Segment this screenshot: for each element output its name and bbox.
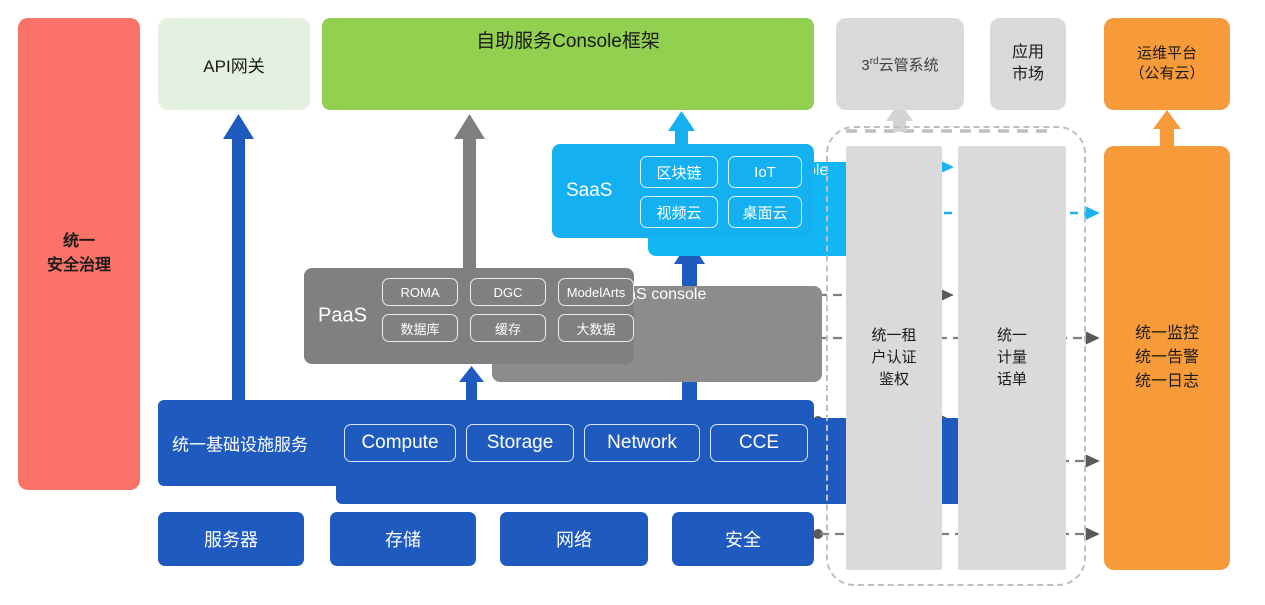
paas-service-modelarts[interactable]: ModelArts (558, 278, 634, 306)
saas-service-iot[interactable]: IoT (728, 156, 802, 188)
paas-service-bigdata[interactable]: 大数据 (558, 314, 634, 342)
security-governance-panel[interactable]: 统一 安全治理 (18, 18, 140, 490)
app-market-box[interactable]: 应用 市场 (990, 18, 1066, 110)
iaas-layer-label: 统一基础设施服务 (172, 431, 308, 456)
saas-layer-label: SaaS (566, 180, 612, 202)
saas-service-blockchain-label: 区块链 (656, 162, 701, 183)
security-governance-line2: 安全治理 (47, 254, 111, 278)
auth-line3: 鉴权 (871, 369, 916, 391)
saas-service-video-cloud[interactable]: 视频云 (640, 196, 718, 228)
ops-platform-line2: （公有云） (1129, 64, 1204, 84)
metering-line2: 计量 (997, 347, 1027, 369)
third-party-cloud-mgmt-box[interactable]: 3rd云管系统 (836, 18, 964, 110)
paas-service-roma-label: ROMA (401, 285, 440, 300)
iaas-service-cce[interactable]: CCE (710, 424, 808, 462)
metering-line3: 话单 (997, 369, 1027, 391)
resource-storage-label: 存储 (385, 526, 421, 552)
auth-line1: 统一租 (871, 325, 916, 347)
resource-network-label: 网络 (556, 526, 592, 552)
paas-service-modelarts-label: ModelArts (567, 285, 626, 300)
ops-platform-box[interactable]: 运维平台 （公有云） (1104, 18, 1230, 110)
resource-network-box[interactable]: 网络 (500, 512, 648, 566)
unified-ops-column[interactable]: 统一监控 统一告警 统一日志 (1104, 146, 1230, 570)
iaas-service-cce-label: CCE (739, 432, 779, 454)
ops-column-line1: 统一监控 (1135, 322, 1199, 346)
resource-server-box[interactable]: 服务器 (158, 512, 304, 566)
resource-storage-box[interactable]: 存储 (330, 512, 476, 566)
auth-line2: 户认证 (871, 347, 916, 369)
saas-service-video-cloud-label: 视频云 (656, 202, 701, 223)
resource-security-box[interactable]: 安全 (672, 512, 814, 566)
console-framework-box[interactable]: 自助服务Console框架 IaaS console PaaS console … (322, 18, 814, 110)
saas-service-blockchain[interactable]: 区块链 (640, 156, 718, 188)
ops-column-line2: 统一告警 (1135, 346, 1199, 370)
ops-platform-line1: 运维平台 (1129, 44, 1204, 64)
third-cloud-suffix: 云管系统 (879, 57, 939, 74)
third-cloud-sup: rd (870, 56, 879, 67)
arrow-ops-to-ops-platform (1153, 110, 1181, 148)
iaas-service-network-label: Network (607, 432, 677, 454)
api-gateway-box[interactable]: API网关 (158, 18, 310, 110)
iaas-service-network[interactable]: Network (584, 424, 700, 462)
saas-service-desktop-cloud[interactable]: 桌面云 (728, 196, 802, 228)
arrow-iaas-to-paas (459, 366, 484, 400)
resource-security-label: 安全 (725, 526, 761, 552)
third-cloud-label: 3rd云管系统 (861, 54, 938, 75)
iaas-service-storage-label: Storage (487, 432, 554, 454)
iaas-service-storage[interactable]: Storage (466, 424, 574, 462)
paas-service-bigdata-label: 大数据 (576, 319, 615, 338)
iaas-service-compute[interactable]: Compute (344, 424, 456, 462)
api-gateway-label: API网关 (203, 52, 264, 77)
paas-service-cache-label: 缓存 (495, 319, 521, 338)
iaas-service-compute-label: Compute (361, 432, 438, 454)
arrow-saas-to-saas-console (668, 111, 695, 148)
paas-service-database-label: 数据库 (400, 319, 439, 338)
unified-tenant-auth-column[interactable]: 统一租 户认证 鉴权 (846, 146, 942, 570)
resource-server-label: 服务器 (204, 526, 258, 552)
security-governance-line1: 统一 (47, 230, 111, 254)
paas-layer-label: PaaS (318, 305, 367, 328)
ops-column-line3: 统一日志 (1135, 370, 1199, 394)
metering-line1: 统一 (997, 325, 1027, 347)
architecture-diagram: 统一 安全治理 API网关 自助服务Console框架 IaaS console… (0, 0, 1265, 605)
third-cloud-prefix: 3 (861, 57, 869, 74)
paas-service-dgc[interactable]: DGC (470, 278, 546, 306)
saas-service-desktop-cloud-label: 桌面云 (742, 202, 787, 223)
paas-service-cache[interactable]: 缓存 (470, 314, 546, 342)
iaas-layer-box[interactable]: 统一基础设施服务 Compute Storage Network CCE (158, 400, 814, 486)
paas-service-dgc-label: DGC (494, 285, 523, 300)
app-market-line1: 应用 (1012, 42, 1044, 64)
unified-metering-billing-column[interactable]: 统一 计量 话单 (958, 146, 1066, 570)
saas-service-iot-label: IoT (754, 164, 776, 181)
arrow-iaas-to-api-gateway (223, 114, 254, 400)
paas-service-roma[interactable]: ROMA (382, 278, 458, 306)
console-framework-title: 自助服务Console框架 (322, 26, 814, 53)
paas-layer-box[interactable]: PaaS ROMA DGC ModelArts 数据库 缓存 大数据 (304, 268, 634, 364)
paas-service-database[interactable]: 数据库 (382, 314, 458, 342)
app-market-line2: 市场 (1012, 64, 1044, 86)
saas-layer-box[interactable]: SaaS 区块链 IoT 视频云 桌面云 (552, 144, 814, 238)
arrow-paas-to-console (454, 114, 485, 269)
